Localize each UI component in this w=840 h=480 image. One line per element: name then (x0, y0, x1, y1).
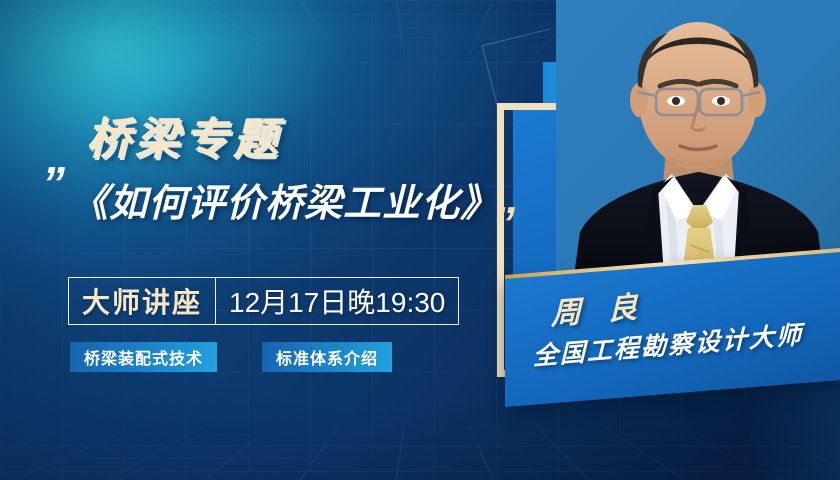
background-floor-grid (0, 421, 840, 480)
page-title: 桥梁专题 (86, 103, 282, 167)
promo-banner: 周 良 全国工程勘察设计大师 ” 桥梁专题 《如何评价桥梁工业化》 ” 大师讲座… (0, 0, 840, 480)
quote-close-mark: ” (492, 200, 511, 246)
quote-open-mark: ” (42, 160, 61, 206)
lecture-type-label: 大师讲座 (69, 278, 216, 324)
lecture-info-bar: 大师讲座 12月17日晚19:30 (68, 277, 459, 325)
topic-tag-2[interactable]: 标准体系介绍 (262, 342, 392, 372)
topic-tag-list: 桥梁装配式技术 标准体系介绍 (70, 342, 392, 372)
page-subtitle: 《如何评价桥梁工业化》 (70, 172, 499, 227)
topic-tag-1[interactable]: 桥梁装配式技术 (70, 342, 217, 372)
lecture-datetime: 12月17日晚19:30 (216, 278, 458, 324)
speaker-nameplate: 周 良 全国工程勘察设计大师 (505, 251, 840, 407)
